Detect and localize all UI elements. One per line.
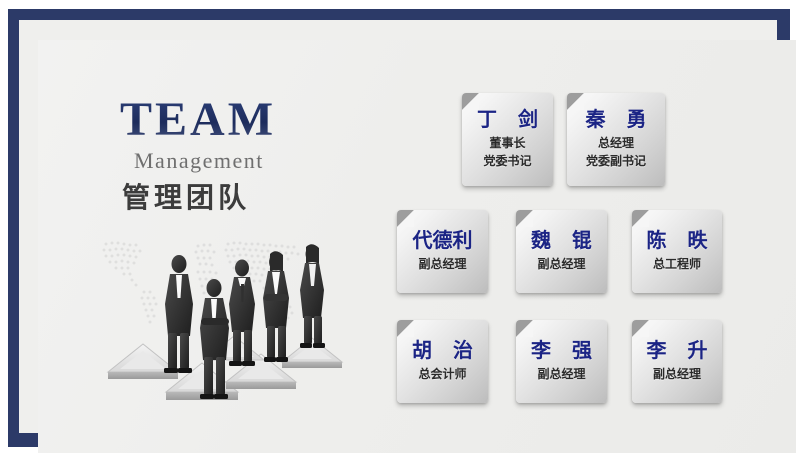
slide-root: TEAM Management 管理团队	[0, 0, 800, 458]
brand-subtitle-management: Management	[134, 150, 406, 172]
member-titles: 总会计师	[418, 366, 466, 383]
member-title: 董事长	[489, 135, 525, 152]
member-titles: 副总经理	[653, 366, 701, 383]
member-titles: 副总经理	[537, 366, 585, 383]
brand-block: TEAM Management 管理团队	[116, 96, 406, 212]
member-title: 总会计师	[418, 366, 466, 383]
team-member-card[interactable]: 李 强 副总经理	[516, 320, 607, 403]
member-title: 总工程师	[653, 256, 701, 273]
member-name: 代德利	[413, 230, 473, 251]
member-titles: 董事长 党委书记	[483, 135, 531, 170]
member-title: 副总经理	[537, 256, 585, 273]
member-name: 李 强	[524, 340, 599, 361]
team-illustration	[86, 232, 366, 422]
team-member-card[interactable]: 胡 治 总会计师	[397, 320, 488, 403]
member-titles: 总工程师	[653, 256, 701, 273]
member-name: 胡 治	[405, 340, 480, 361]
member-title: 总经理	[598, 135, 634, 152]
team-member-card[interactable]: 丁 剑 董事长 党委书记	[462, 93, 553, 186]
brand-title-team: TEAM	[120, 96, 406, 144]
member-name: 魏 锟	[524, 230, 599, 251]
business-people-illustration	[86, 232, 366, 422]
team-member-card[interactable]: 魏 锟 副总经理	[516, 210, 607, 293]
brand-title-chinese: 管理团队	[122, 184, 406, 212]
member-title: 党委副书记	[586, 153, 646, 170]
team-member-card[interactable]: 秦 勇 总经理 党委副书记	[567, 93, 665, 186]
member-titles: 副总经理	[418, 256, 466, 273]
member-title: 副总经理	[653, 366, 701, 383]
member-title: 党委书记	[483, 153, 531, 170]
member-title: 副总经理	[537, 366, 585, 383]
member-name: 李 升	[640, 340, 715, 361]
slide-border-frame: TEAM Management 管理团队	[8, 9, 790, 447]
team-member-card[interactable]: 李 升 副总经理	[632, 320, 722, 403]
member-name: 秦 勇	[579, 109, 654, 130]
member-name: 陈 昳	[640, 230, 715, 251]
member-name: 丁 剑	[470, 109, 545, 130]
team-member-card[interactable]: 代德利 副总经理	[397, 210, 488, 293]
member-titles: 总经理 党委副书记	[586, 135, 646, 170]
member-titles: 副总经理	[537, 256, 585, 273]
slide-canvas: TEAM Management 管理团队	[38, 40, 796, 453]
member-title: 副总经理	[418, 256, 466, 273]
team-member-card[interactable]: 陈 昳 总工程师	[632, 210, 722, 293]
